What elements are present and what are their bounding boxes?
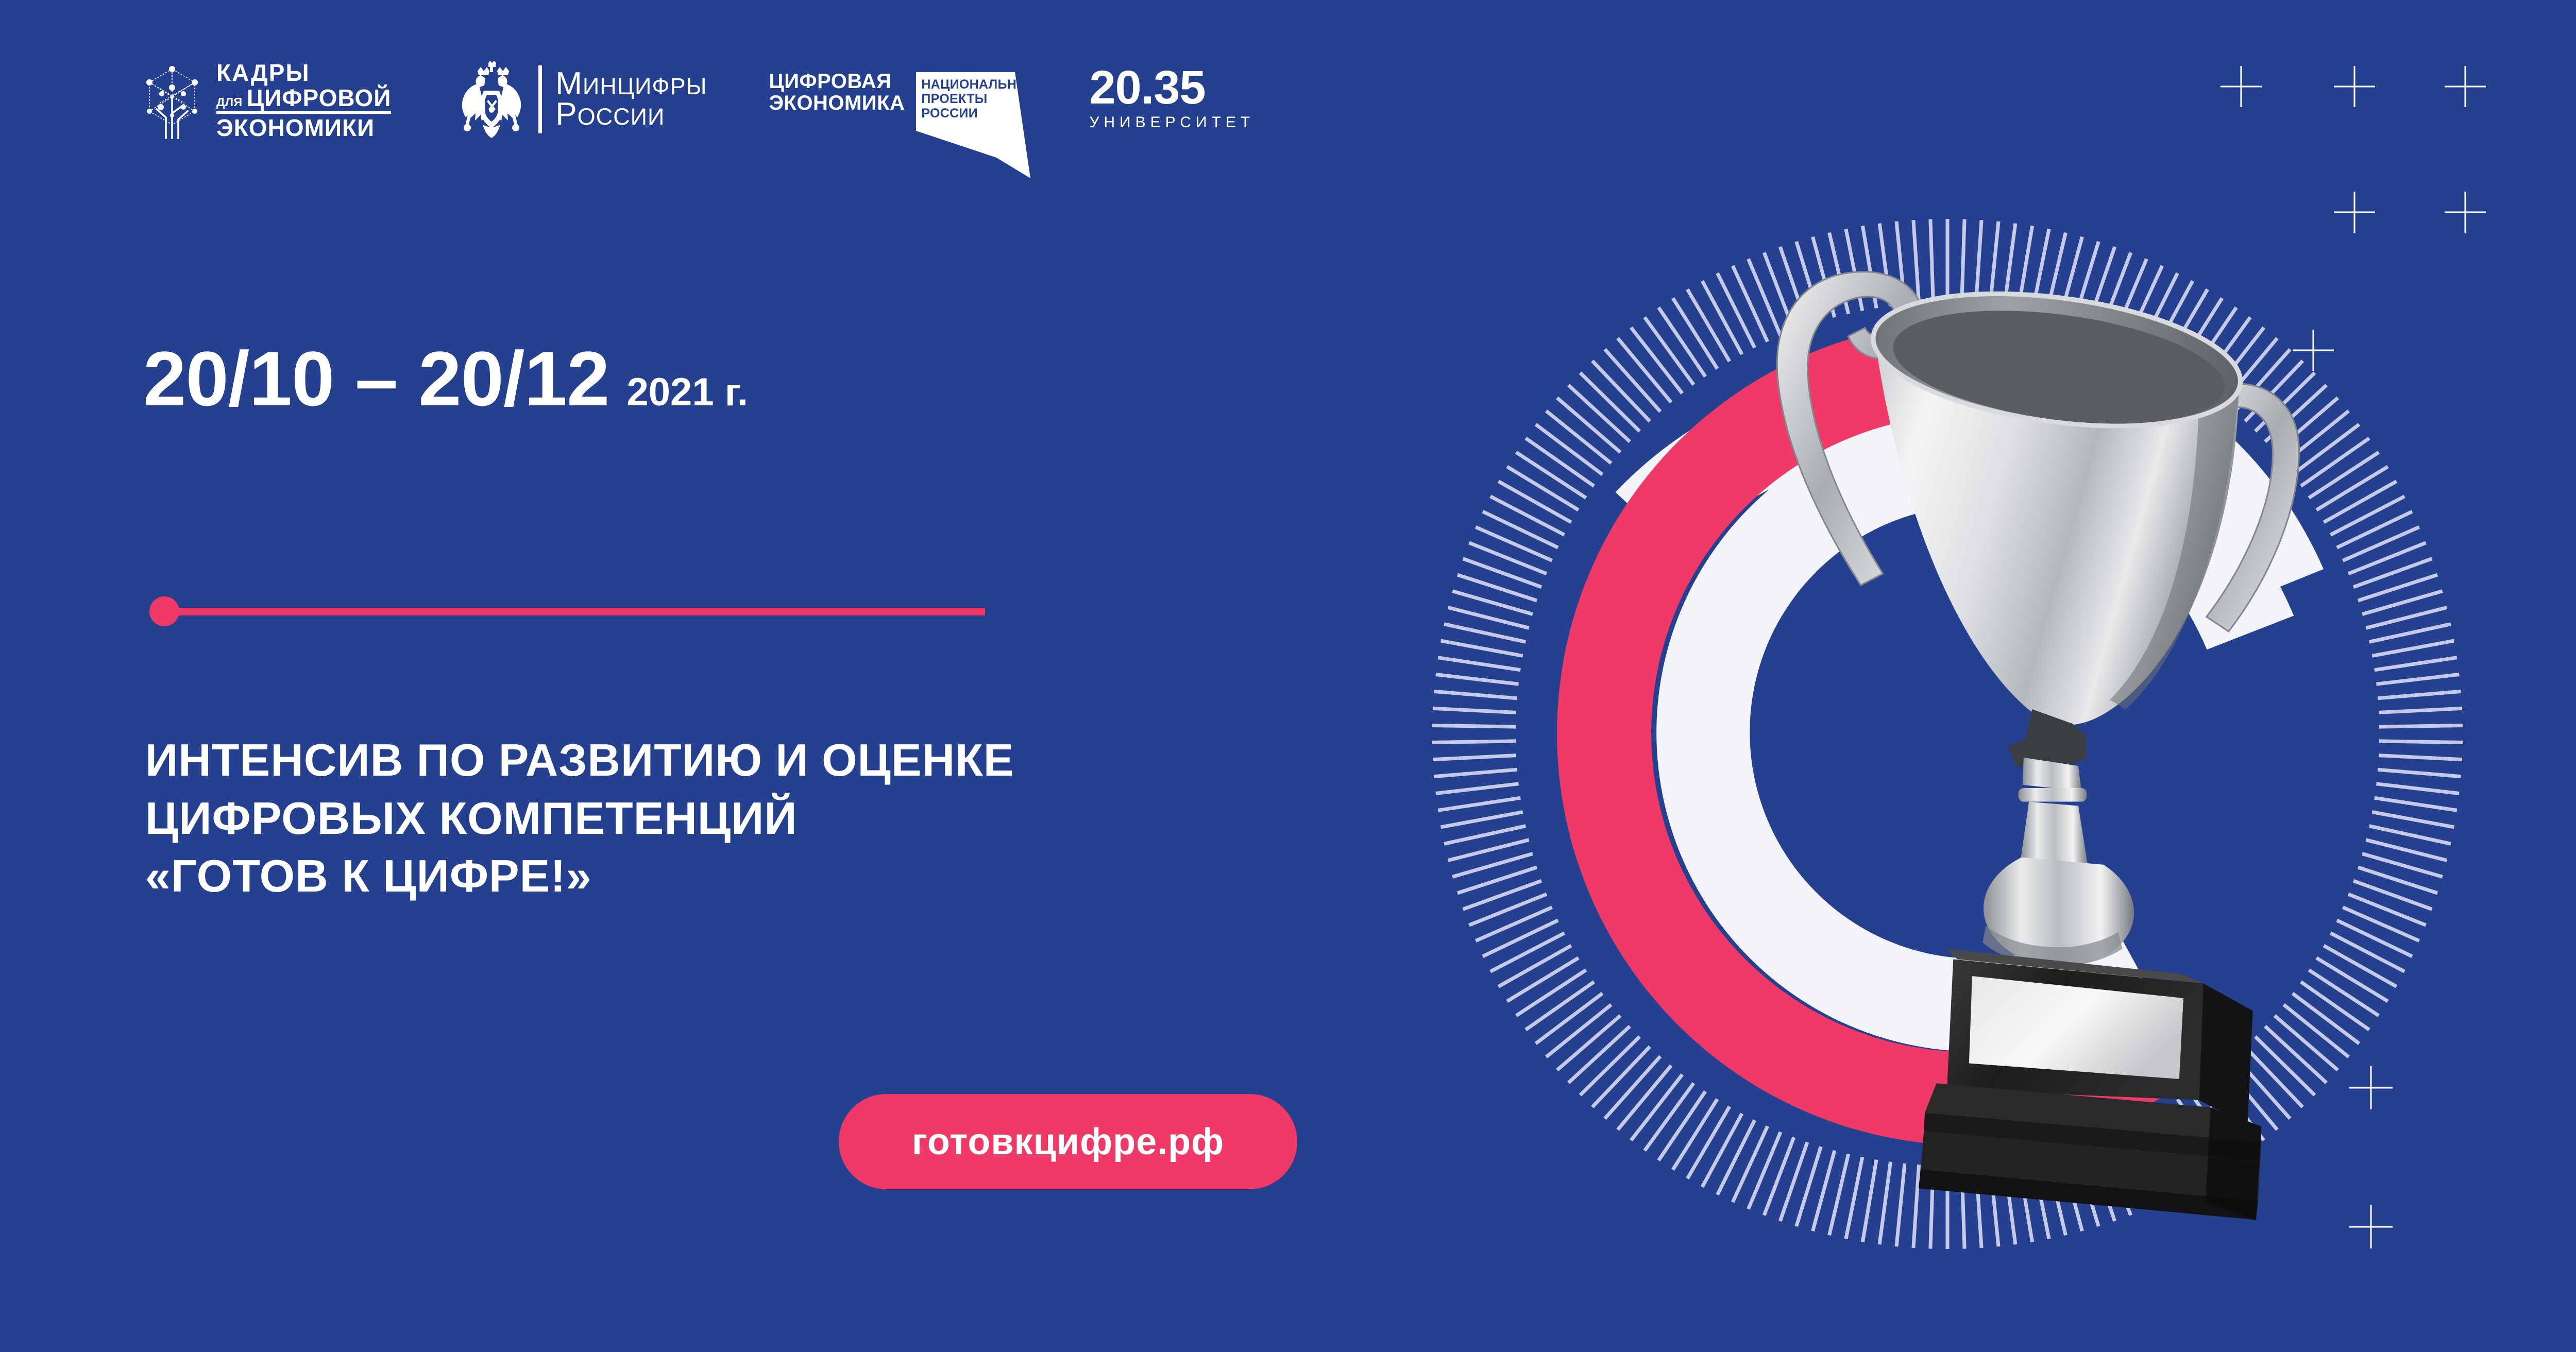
trophy-ring-graphic [1319,93,2576,1352]
national-projects-text: НАЦИОНАЛЬНЫЕ ПРОЕКТЫ РОССИИ [921,77,1038,121]
kadry-small-dlya: ДЛЯ [216,96,243,110]
digital-economy-line2: ЭКОНОМИКА [769,93,905,114]
russian-coat-of-arms-icon [458,61,525,138]
date-year: 2021 г. [627,370,748,415]
logo-kadry-dlya-cifrovoy-ekonomiki: КАДРЫ ДЛЯ ЦИФРОВОЙ ЭКОНОМИКИ [139,61,391,140]
logo-cifrovaya-ekonomika: ЦИФРОВАЯ ЭКОНОМИКА НАЦИОНАЛЬНЫЕ ПРОЕКТЫ … [769,61,1032,181]
mincifry-line1: МИНЦИФРЫ [555,69,707,99]
date-range: 20/10 – 20/12 [143,340,609,417]
headline-line-1: ИНТЕНСИВ ПО РАЗВИТИЮ И ОЦЕНКЕ [145,731,1014,790]
headline-line-3: «ГОТОВ К ЦИФРЕ!» [145,847,1014,905]
partner-logo-row: КАДРЫ ДЛЯ ЦИФРОВОЙ ЭКОНОМИКИ [139,61,1255,181]
accent-line [176,608,985,615]
kadry-line3: ЭКОНОМИКИ [216,111,391,140]
headline-line-2: ЦИФРОВЫХ КОМПЕТЕНЦИЙ [145,790,1014,848]
poster-root: КАДРЫ ДЛЯ ЦИФРОВОЙ ЭКОНОМИКИ [0,0,2576,1352]
website-cta-label: готовкцифре.рф [912,1121,1224,1163]
accent-rule [149,596,985,626]
mincifry-line2: РОССИИ [555,99,707,130]
website-cta-button[interactable]: готовкцифре.рф [839,1094,1297,1189]
university-word: УНИВЕРСИТЕТ [1089,114,1255,131]
logo-2035-university: 20.35 УНИВЕРСИТЕТ [1089,66,1255,131]
digital-economy-line1: ЦИФРОВАЯ [769,71,905,93]
accent-dot-icon [149,596,179,626]
logo-divider [538,65,542,133]
university-number: 20.35 [1089,66,1205,110]
event-dates: 20/10 – 20/12 2021 г. [143,340,748,417]
national-projects-flag-icon: НАЦИОНАЛЬНЫЕ ПРОЕКТЫ РОССИИ [914,70,1032,181]
kadry-line2: ЦИФРОВОЙ [247,86,392,110]
network-tree-icon [139,62,205,139]
page-title: ИНТЕНСИВ ПО РАЗВИТИЮ И ОЦЕНКЕ ЦИФРОВЫХ К… [145,731,1014,905]
logo-mincifry-rossii: МИНЦИФРЫ РОССИИ [458,61,707,138]
kadry-line1: КАДРЫ [216,61,391,84]
